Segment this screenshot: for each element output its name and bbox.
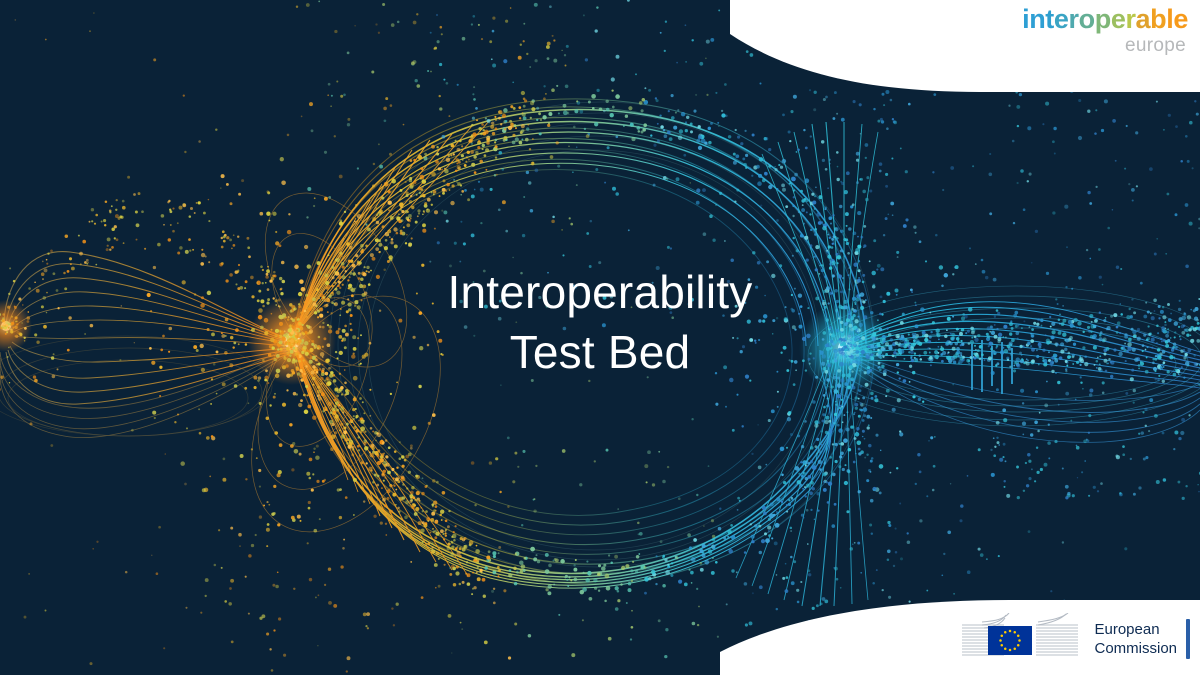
- ec-text-line-1: European: [1094, 620, 1177, 639]
- ec-accent-bar: [1186, 619, 1190, 659]
- logo-letter-3: e: [1054, 4, 1069, 34]
- logo-letter-1: n: [1029, 4, 1045, 34]
- logo-letter-7: e: [1111, 4, 1126, 34]
- logo-letter-2: t: [1045, 4, 1054, 34]
- logo-subtitle: europe: [1022, 36, 1188, 55]
- logo-wordmark: interoperable: [1022, 6, 1188, 33]
- logo-letter-9: a: [1136, 4, 1151, 34]
- ec-logo-text: European Commission: [1094, 620, 1177, 658]
- slide-canvas: Interoperability Test Bed interoperable …: [0, 0, 1200, 675]
- european-commission-logo[interactable]: European Commission: [960, 611, 1190, 667]
- logo-letter-10: b: [1150, 4, 1166, 34]
- logo-letter-4: r: [1069, 4, 1079, 34]
- interoperable-europe-logo[interactable]: interoperable europe: [1022, 6, 1188, 55]
- ec-text-line-2: Commission: [1094, 639, 1177, 658]
- network-particle-visualisation: [0, 0, 1200, 675]
- logo-letter-6: p: [1095, 4, 1111, 34]
- logo-letter-5: o: [1079, 4, 1095, 34]
- logo-letter-12: e: [1173, 4, 1188, 34]
- ec-emblem-icon: [960, 613, 1088, 665]
- logo-letter-8: r: [1125, 4, 1135, 34]
